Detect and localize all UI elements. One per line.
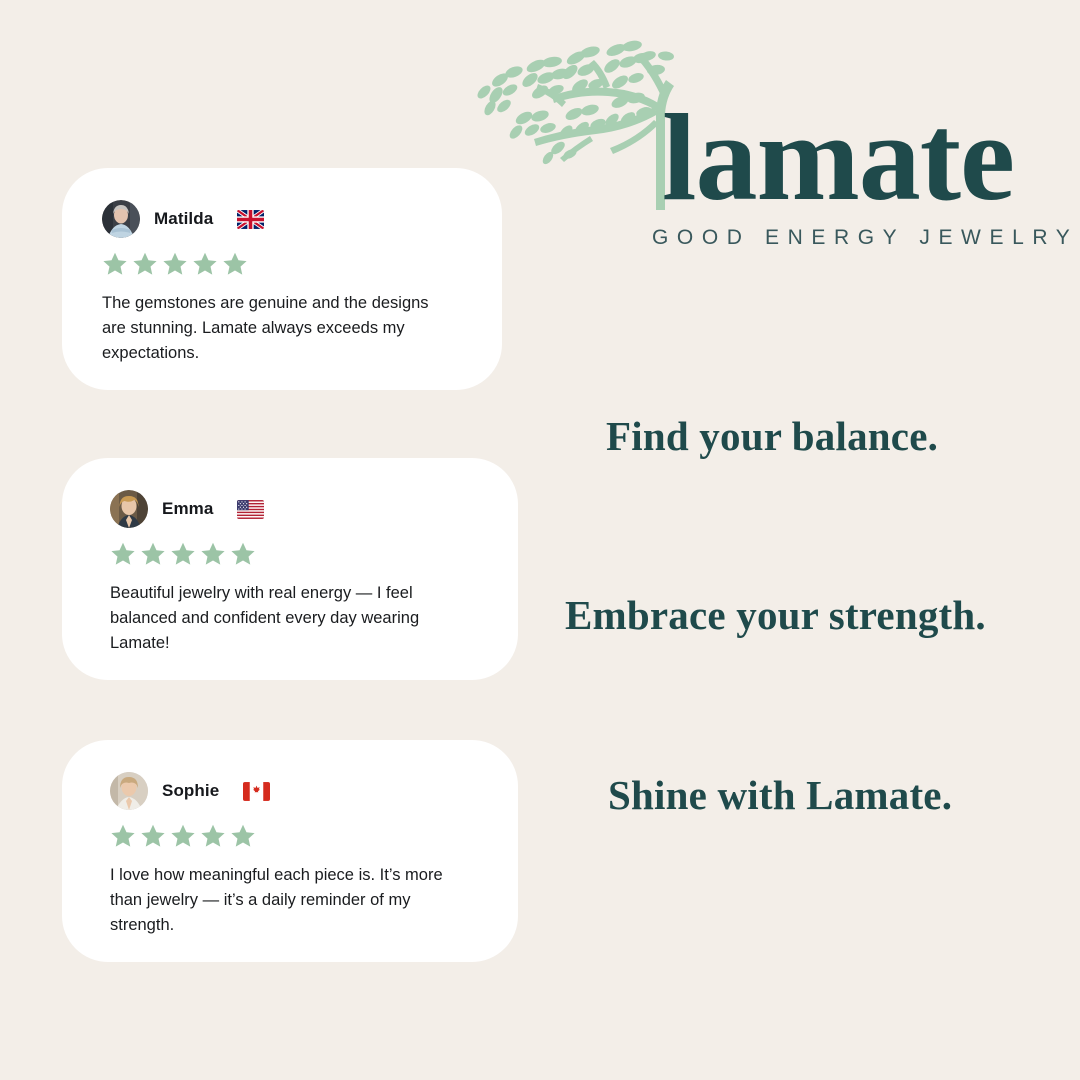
tree-branch-icon	[470, 40, 690, 210]
reviewer-header: Sophie	[110, 770, 478, 812]
flag-us-icon	[237, 500, 264, 519]
avatar	[102, 200, 140, 238]
brand-tagline: GOOD ENERGY JEWELRY	[652, 226, 1078, 250]
star-icon	[140, 823, 166, 849]
star-rating	[102, 249, 462, 279]
star-icon	[170, 823, 196, 849]
reviewer-header: Matilda	[102, 198, 462, 240]
star-icon	[162, 251, 188, 277]
reviewer-name: Sophie	[162, 781, 219, 801]
star-icon	[170, 541, 196, 567]
review-text: I love how meaningful each piece is. It’…	[110, 863, 478, 938]
star-icon	[200, 823, 226, 849]
star-icon	[140, 541, 166, 567]
star-icon	[230, 541, 256, 567]
star-rating	[110, 821, 478, 851]
tagline-shine-with-lamate: Shine with Lamate.	[608, 771, 952, 819]
star-icon	[102, 251, 128, 277]
star-icon	[230, 823, 256, 849]
review-text: The gemstones are genuine and the design…	[102, 291, 432, 366]
star-icon	[200, 541, 226, 567]
star-icon	[222, 251, 248, 277]
flag-ca-icon	[243, 782, 270, 801]
tagline-embrace-your-strength: Embrace your strength.	[565, 591, 986, 639]
review-card: Emma	[62, 458, 518, 680]
tagline-find-your-balance: Find your balance.	[606, 412, 938, 460]
review-card: Matilda The gemstones are genuine and th…	[62, 168, 502, 390]
star-icon	[110, 823, 136, 849]
brand-wordmark: lamate	[662, 96, 1014, 220]
reviewer-name: Matilda	[154, 209, 213, 229]
reviewer-header: Emma	[110, 488, 478, 530]
brand-logo: lamate GOOD ENERGY JEWELRY	[470, 40, 1040, 230]
avatar	[110, 772, 148, 810]
promo-canvas: lamate GOOD ENERGY JEWELRY	[0, 0, 1080, 1080]
star-icon	[132, 251, 158, 277]
star-icon	[110, 541, 136, 567]
avatar	[110, 490, 148, 528]
flag-uk-icon	[237, 210, 264, 229]
reviewer-name: Emma	[162, 499, 213, 519]
star-icon	[192, 251, 218, 277]
review-card: Sophie I love how meaningful each piece …	[62, 740, 518, 962]
star-rating	[110, 539, 478, 569]
review-text: Beautiful jewelry with real energy — I f…	[110, 581, 478, 656]
